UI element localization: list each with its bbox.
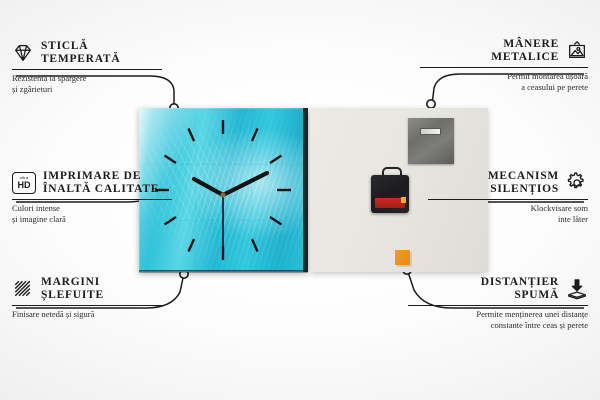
callout-divider (408, 305, 588, 306)
callout-distantier-spuma: DISTANȚIER SPUMĂ Permite menținerea unei… (408, 276, 588, 331)
hour-marker-4 (270, 217, 282, 225)
clock-center-cap (220, 192, 225, 197)
callout-divider (12, 199, 172, 200)
hour-marker-7 (189, 239, 195, 252)
minute-hand (223, 173, 267, 195)
callout-divider (428, 199, 588, 200)
callout-sub-line1: Rezistentă la spargere (12, 73, 162, 84)
callout-divider (12, 69, 162, 70)
callout-title: DISTANȚIER SPUMĂ (481, 276, 559, 302)
gear-icon (566, 172, 588, 194)
callout-header: MECANISM SILENȚIOS (428, 170, 588, 196)
metal-hanger-plate (408, 118, 454, 164)
callout-sub-line1: Klockvisare som (428, 203, 588, 214)
callout-sticla-temperata: STICLĂ TEMPERATĂ Rezistentă la spargere … (12, 40, 162, 95)
hanger-slot (420, 128, 441, 135)
hour-marker-11 (189, 129, 195, 142)
hanging-picture-frame-icon (566, 40, 588, 62)
callout-title: IMPRIMARE DE ÎNALTĂ CALITATE (43, 170, 159, 196)
hour-hand (194, 179, 223, 195)
callout-header: STICLĂ TEMPERATĂ (12, 40, 162, 66)
callout-title: MARGINI ȘLEFUITE (41, 276, 104, 302)
hour-marker-1 (252, 129, 258, 142)
diagonal-lines-icon (12, 278, 34, 300)
callout-sub-line2: și zgârieturi (12, 84, 162, 95)
callout-imprimare-inalta-calitate: ultra HD IMPRIMARE DE ÎNALTĂ CALITATE Cu… (12, 170, 172, 225)
callout-sub-line1: Culori intense (12, 203, 172, 214)
callout-header: MARGINI ȘLEFUITE (12, 276, 162, 302)
callout-divider (12, 305, 162, 306)
callout-title: STICLĂ TEMPERATĂ (41, 40, 120, 66)
callout-sub-line1: Permit montarea ușoară (420, 71, 588, 82)
callout-header: ultra HD IMPRIMARE DE ÎNALTĂ CALITATE (12, 170, 172, 196)
hd-label: HD (18, 181, 31, 190)
callout-header: MÂNERE METALICE (420, 38, 588, 64)
callout-sub-line1: Permite menținerea unei distanțe (408, 309, 588, 320)
callout-margini-slefuite: MARGINI ȘLEFUITE Finisare netedă și sigu… (12, 276, 162, 320)
hour-marker-2 (270, 156, 282, 164)
callout-title: MECANISM SILENȚIOS (488, 170, 559, 196)
infographic-canvas: STICLĂ TEMPERATĂ Rezistentă la spargere … (0, 0, 600, 400)
arrow-down-onto-pad-icon (566, 278, 588, 300)
callout-divider (420, 67, 588, 68)
callout-header: DISTANȚIER SPUMĂ (408, 276, 588, 302)
callout-sub-line1: Finisare netedă și sigură (12, 309, 162, 320)
callout-sub-line2: a ceasului pe perete (420, 82, 588, 93)
diamond-icon (12, 42, 34, 64)
hour-marker-10 (165, 156, 177, 164)
ultra-hd-badge-icon: ultra HD (12, 172, 36, 194)
callout-title: MÂNERE METALICE (491, 38, 559, 64)
callout-manere-metalice: MÂNERE METALICE Permit montarea ușoară a… (420, 38, 588, 93)
connector-dot-manere (427, 100, 435, 108)
callout-mecanism-silentios: MECANISM SILENȚIOS Klockvisare som inte … (428, 170, 588, 225)
foam-spacer (395, 250, 410, 265)
battery-terminal (401, 197, 406, 203)
callout-sub-line2: inte låter (428, 214, 588, 225)
callout-sub-line2: și imagine clară (12, 214, 172, 225)
hour-marker-5 (252, 239, 258, 252)
callout-sub-line2: constante între ceas și perete (408, 320, 588, 331)
